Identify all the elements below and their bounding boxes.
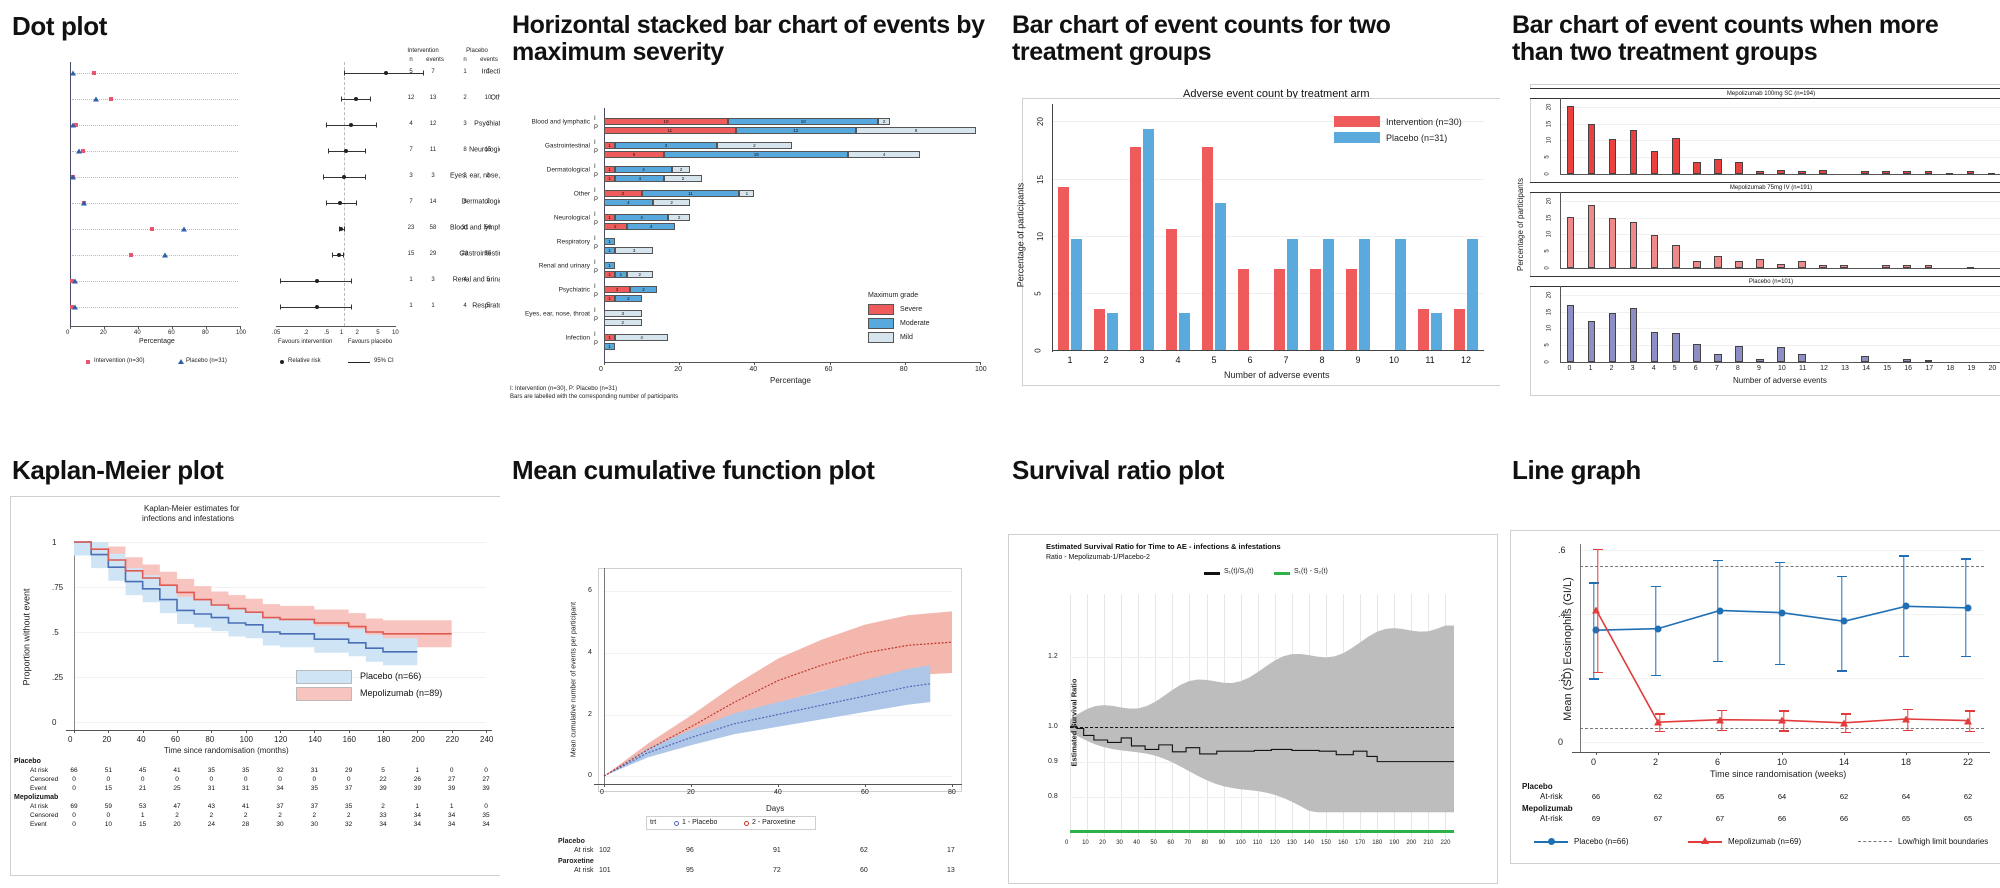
mcf-risk-value: 72 <box>773 867 781 874</box>
bar-two-groups-bar-placebo <box>1431 313 1442 350</box>
line-graph-point-placebo <box>1841 618 1848 625</box>
dot-plot-table-cell: 29 <box>430 251 437 257</box>
dot-plot-rr-tick-label: .05 <box>272 330 280 336</box>
bar-two-groups-x-axis <box>1052 350 1484 351</box>
dot-plot-table-cell: 1 <box>486 69 489 75</box>
kaplan-meier-risk-value: 47 <box>173 803 180 810</box>
stacked-bar-arm-label-I: I <box>594 332 596 338</box>
line-graph-point-mepolizumab <box>1902 716 1910 723</box>
dot-plot-ci-cap-high <box>376 122 377 127</box>
kaplan-meier-risk-value: 35 <box>345 803 352 810</box>
bar-two-groups-y-axis-label: Percentage of participants <box>1015 183 1025 288</box>
bar-multi-groups-gridline <box>1560 140 2000 141</box>
dot-plot-rr-tick-label: 1 <box>340 330 343 336</box>
bar-multi-groups-y-tick-label: 5 <box>1545 156 1551 159</box>
bar-two-groups-x-tick-label: 7 <box>1283 355 1288 365</box>
bar-multi-groups-x-tick-label: 3 <box>1631 365 1635 372</box>
kaplan-meier-risk-value: 20 <box>173 821 180 828</box>
dot-plot-ci-cap-low <box>332 252 333 257</box>
panel-line-graph: Line graph 0.2.4.602610141822Time since … <box>1500 444 2000 888</box>
dot-plot-ci-cap-high <box>370 96 371 101</box>
bar-two-groups-x-tick-label: 6 <box>1247 355 1252 365</box>
dot-plot-rr-tick-label: .5 <box>324 330 329 336</box>
dot-plot-table-cell: 15 <box>408 251 415 257</box>
bar-multi-groups-bar <box>1693 261 1701 268</box>
line-graph-point-mepolizumab <box>1592 606 1600 613</box>
bar-multi-groups-bar <box>1903 171 1911 174</box>
line-graph-error-cap-bottom <box>1965 731 1975 732</box>
line-graph-legend-label: Low/high limit boundaries <box>1898 837 1988 846</box>
dot-plot-rr-point <box>354 97 358 101</box>
stacked-bar-segment-label: 3 <box>622 311 625 316</box>
kaplan-meier-risk-value: 10 <box>105 821 112 828</box>
bar-multi-groups-bar <box>1609 139 1617 174</box>
dot-plot-ci-row <box>8 280 500 281</box>
dot-plot-table-cell: 14 <box>430 199 437 205</box>
line-graph-legend-label: Placebo (n=66) <box>1574 837 1628 846</box>
mcf-figure: 0246020406080DaysMean cumulative number … <box>508 488 992 888</box>
dot-plot-reference-line <box>344 62 345 326</box>
dot-plot-table-cell: 3 <box>463 173 466 179</box>
line-graph-point-mepolizumab <box>1654 719 1662 726</box>
kaplan-meier-risk-value: 51 <box>105 767 112 774</box>
dot-plot-x-tick-label: 20 <box>100 330 107 336</box>
bar-multi-groups-bar <box>1756 359 1764 362</box>
survival-ratio-x-tick-label: 200 <box>1406 840 1416 846</box>
kaplan-meier-risk-value: 34 <box>276 785 283 792</box>
dot-plot-table-cell: 1 <box>409 303 412 309</box>
kaplan-meier-risk-value: 31 <box>311 767 318 774</box>
line-graph-error-cap-bottom <box>1593 672 1603 673</box>
stacked-bar-segment-label: 2 <box>614 224 617 229</box>
survival-ratio-reference-line <box>1070 727 1454 728</box>
dot-plot-legend-label: 95% CI <box>374 358 394 364</box>
dot-plot-ci-row <box>8 98 500 99</box>
dot-plot-rr-axis <box>276 326 396 327</box>
mcf-legend-label: 1 - Placebo <box>682 819 717 826</box>
dot-plot-x-tick <box>104 326 105 329</box>
bar-multi-groups-bar <box>1672 138 1680 174</box>
bar-two-groups-bar-placebo <box>1179 313 1190 350</box>
line-graph-error-cap-bottom <box>1589 678 1599 679</box>
dot-plot-ci-cap-low <box>326 122 327 127</box>
bar-multi-groups-x-tick-label: 11 <box>1799 365 1806 372</box>
bar-two-groups-bar-intervention <box>1418 309 1429 350</box>
kaplan-meier-risk-value: 0 <box>313 776 317 783</box>
kaplan-meier-risk-value: 30 <box>311 821 318 828</box>
line-graph-error-cap-bottom <box>1779 730 1789 731</box>
bar-two-groups-bar-placebo <box>1071 239 1082 350</box>
bar-two-groups-bar-intervention <box>1202 147 1213 350</box>
survival-ratio-x-tick-label: 0 <box>1065 840 1068 846</box>
line-graph-error-cap-top <box>1903 709 1913 710</box>
bar-multi-groups-bar <box>1567 305 1575 362</box>
dot-plot-table-cell: 2 <box>463 95 466 101</box>
bar-multi-groups-y-tick-label: 0 <box>1545 360 1551 363</box>
mcf-risk-row-label: At risk <box>574 867 593 874</box>
mcf-risk-value: 13 <box>947 867 955 874</box>
bar-two-groups-bar-intervention <box>1346 269 1357 350</box>
bar-multi-groups-x-tick-label: 1 <box>1589 365 1593 372</box>
kaplan-meier-risk-row-label: Event <box>30 821 47 828</box>
dot-plot-table-header-intervention: Intervention <box>407 48 438 54</box>
kaplan-meier-risk-value: 21 <box>139 785 146 792</box>
dot-plot-rr-point <box>342 175 346 179</box>
stacked-bar-arm-label-P: P <box>594 341 598 347</box>
bar-multi-groups-bar <box>1882 171 1890 174</box>
line-graph-x-tick <box>1658 752 1659 755</box>
dot-plot-ci-row <box>8 306 500 307</box>
line-graph-x-tick-label: 18 <box>1901 757 1911 767</box>
bar-multi-groups-y-tick-label: 0 <box>1545 172 1551 175</box>
dot-plot-x-tick-label: 80 <box>202 330 209 336</box>
bar-multi-groups-y-tick-label: 10 <box>1546 231 1552 238</box>
bar-multi-groups-bar <box>1777 264 1785 268</box>
mcf-risk-group-name: Placebo <box>558 838 585 845</box>
bar-two-groups-gridline <box>1052 179 1484 180</box>
bar-multi-groups-y-tick-label: 20 <box>1546 103 1552 110</box>
kaplan-meier-risk-value: 0 <box>72 821 76 828</box>
stacked-bar-category-label: Dermatological <box>508 167 590 174</box>
stacked-bar-x-axis <box>604 362 980 363</box>
bar-multi-groups-bar <box>1861 356 1869 362</box>
dot-plot-ci-cap-high <box>365 174 366 179</box>
line-graph-error-cap-bottom <box>1837 670 1847 671</box>
kaplan-meier-risk-group-name: Mepolizumab <box>14 794 58 801</box>
stacked-bar-x-axis-label: Percentage <box>770 376 811 385</box>
kaplan-meier-risk-value: 33 <box>379 812 386 819</box>
dot-plot-ci-cap-high <box>356 200 357 205</box>
stacked-bar-category-label: Neurological <box>508 215 590 222</box>
stacked-bar-segment-label: 4 <box>627 200 630 205</box>
kaplan-meier-risk-value: 31 <box>208 785 215 792</box>
line-graph-x-tick-label: 10 <box>1777 757 1787 767</box>
survival-ratio-x-tick-label: 10 <box>1082 840 1089 846</box>
dot-plot-table-cell: 15 <box>485 147 492 153</box>
survival-ratio-x-tick-label: 180 <box>1372 840 1382 846</box>
bar-two-groups-x-axis-label: Number of adverse events <box>1224 370 1330 380</box>
line-graph-error-cap-bottom <box>1903 730 1913 731</box>
stacked-bar-segment-label: 1 <box>608 239 611 244</box>
bar-multi-groups-bar <box>1588 205 1596 268</box>
stacked-bar-segment-label: 11 <box>688 191 693 196</box>
stacked-bar-legend-label: Moderate <box>900 320 930 327</box>
line-graph-point-placebo <box>1965 604 1972 611</box>
stacked-bar-arm-label-I: I <box>594 284 596 290</box>
survival-ratio-curves <box>1008 494 1500 874</box>
dot-plot-rr-point <box>384 71 388 75</box>
bar-multi-groups-gridline <box>1560 234 2000 235</box>
dot-plot-ci-cap-low <box>280 278 281 283</box>
dot-plot-rr-tick-label: 10 <box>392 330 399 336</box>
bar-multi-groups-x-tick-label: 2 <box>1610 365 1614 372</box>
kaplan-meier-risk-value: 0 <box>72 776 76 783</box>
mcf-curves <box>508 494 1000 796</box>
dot-plot-table-cell: 10 <box>485 95 492 101</box>
stacked-bar-segment-label: 1 <box>608 167 611 172</box>
bar-multi-groups-bar <box>1714 159 1722 174</box>
bar-multi-groups-y-tick-label: 15 <box>1546 120 1552 127</box>
line-graph-error-cap-top <box>1651 586 1661 587</box>
survival-ratio-x-tick-label: 70 <box>1184 840 1191 846</box>
bar-two-groups-bar-placebo <box>1107 313 1118 350</box>
line-graph-error-cap-top <box>1837 576 1847 577</box>
stacked-bar-footnote-2: Bars are labelled with the corresponding… <box>510 394 678 400</box>
kaplan-meier-risk-value: 34 <box>448 812 455 819</box>
dot-plot-ci-cap-low <box>326 200 327 205</box>
panel-bar-multi-groups: Bar chart of event counts when more than… <box>1500 0 2000 444</box>
bar-multi-groups-x-tick-label: 13 <box>1841 365 1849 372</box>
dot-plot-legend-marker-relative-risk <box>280 360 284 364</box>
line-graph-risk-value: 65 <box>1716 792 1724 801</box>
kaplan-meier-risk-value: 2 <box>381 803 385 810</box>
bar-multi-groups-bar <box>1672 245 1680 268</box>
line-graph-error-cap-top <box>1841 713 1851 714</box>
dot-plot-ci-row <box>8 228 500 229</box>
stacked-bar-arm-label-I: I <box>594 164 596 170</box>
bar-two-groups-bar-placebo <box>1467 239 1478 350</box>
stacked-bar-category-label: Psychiatric <box>508 287 590 294</box>
kaplan-meier-risk-value: 41 <box>242 803 249 810</box>
dot-plot-table-cell: 55 <box>485 251 492 257</box>
kaplan-meier-risk-value: 1 <box>141 812 145 819</box>
line-graph-error-cap-bottom <box>1651 675 1661 676</box>
stacked-bar-segment-label: 5 <box>633 152 636 157</box>
stacked-bar-arm-label-I: I <box>594 236 596 242</box>
dot-plot-table-cell: 4 <box>409 121 412 127</box>
bar-multi-groups-plot-frame <box>1530 84 2000 396</box>
bar-two-groups-bar-intervention <box>1274 269 1285 350</box>
mcf-risk-value: 60 <box>860 867 868 874</box>
dot-plot-rr-tick-label: 5 <box>376 330 379 336</box>
dot-plot-ci-cap-low <box>341 96 342 101</box>
survival-ratio-y-axis-label: Estimated Survival Ratio <box>1070 663 1079 783</box>
mcf-risk-row-label: At risk <box>574 847 593 854</box>
bar-multi-groups-y-tick-label: 5 <box>1545 344 1551 347</box>
kaplan-meier-risk-value: 69 <box>70 803 77 810</box>
bar-multi-groups-panel-header-0: Mepolizumab 100mg SC (n=194) <box>1530 88 2000 99</box>
line-graph-risk-value: 62 <box>1964 792 1972 801</box>
line-graph-risk-value: 67 <box>1716 814 1724 823</box>
survival-ratio-x-tick-label: 90 <box>1219 840 1226 846</box>
kaplan-meier-risk-value: 43 <box>208 803 215 810</box>
line-graph-error-cap-bottom <box>1717 730 1727 731</box>
bar-two-groups-figure: Adverse event count by treatment arm0510… <box>1008 70 1492 444</box>
bar-multi-groups-y-tick-label: 5 <box>1545 250 1551 253</box>
bar-two-groups-gridline <box>1052 236 1484 237</box>
bar-multi-groups-gridline <box>1560 107 2000 108</box>
kaplan-meier-risk-value: 0 <box>484 767 488 774</box>
line-graph-risk-value: 67 <box>1654 814 1662 823</box>
bar-multi-groups-y-tick-label: 10 <box>1546 325 1552 332</box>
panel-survival-ratio: Survival ratio plot Estimated Survival R… <box>1000 444 1500 888</box>
stacked-bar-category-label: Other <box>508 191 590 198</box>
bar-two-groups-legend-swatch-1 <box>1334 132 1380 143</box>
dot-plot-rr-tick-label: 2 <box>356 330 359 336</box>
bar-two-groups-x-tick-label: 5 <box>1211 355 1216 365</box>
line-graph-x-tick <box>1844 752 1845 755</box>
bar-multi-groups-x-tick-label: 10 <box>1778 365 1786 372</box>
bar-two-groups-y-tick-label: 15 <box>1036 175 1045 184</box>
bar-multi-groups-bar <box>1714 354 1722 362</box>
survival-ratio-difference-line <box>1070 830 1454 833</box>
bar-two-groups-legend-label: Placebo (n=31) <box>1386 133 1447 143</box>
line-graph-series <box>1508 494 2000 762</box>
bar-multi-groups-y-axis-2 <box>1560 286 1561 362</box>
dot-plot-x-tick-label: 40 <box>134 330 141 336</box>
bar-multi-groups-x-tick-label: 20 <box>1988 365 1996 372</box>
dot-plot-table-cell: 56 <box>485 225 492 231</box>
dot-plot-y-axis <box>70 62 71 326</box>
stacked-bar-segment-label: 11 <box>667 128 672 133</box>
kaplan-meier-legend-label: Mepolizumab (n=89) <box>360 688 442 698</box>
page-title-survival-ratio: Survival ratio plot <box>1012 456 1492 484</box>
line-graph-risk-value: 64 <box>1902 792 1910 801</box>
bar-multi-groups-gridline <box>1560 328 2000 329</box>
line-graph-x-tick-label: 14 <box>1839 757 1849 767</box>
kaplan-meier-risk-value: 59 <box>105 803 112 810</box>
stacked-bar-arm-label-I: I <box>594 188 596 194</box>
stacked-bar-segment-label: 8 <box>915 128 918 133</box>
line-graph-risk-value: 65 <box>1964 814 1972 823</box>
kaplan-meier-risk-group-name: Placebo <box>14 758 41 765</box>
line-graph-x-tick <box>1720 752 1721 755</box>
bar-multi-groups-gridline <box>1560 201 2000 202</box>
stacked-bar-category-label: Eyes, ear, nose, throat <box>508 311 590 318</box>
bar-two-groups-x-tick-label: 2 <box>1103 355 1108 365</box>
kaplan-meier-risk-row-label: At risk <box>30 767 48 774</box>
bar-multi-groups-bar <box>1588 321 1596 362</box>
line-graph-error-cap-top <box>1593 549 1603 550</box>
bar-multi-groups-bar <box>1925 171 1933 174</box>
bar-two-groups-x-tick-label: 3 <box>1139 355 1144 365</box>
stacked-bar-segment-label: 2 <box>680 167 683 172</box>
line-graph-risk-value: 65 <box>1902 814 1910 823</box>
dot-plot-x-tick <box>70 326 71 329</box>
line-graph-x-tick <box>1596 752 1597 755</box>
bar-multi-groups-gridline <box>1560 251 2000 252</box>
line-graph-legend-label: Mepolizumab (n=69) <box>1728 837 1801 846</box>
survival-ratio-x-tick-label: 80 <box>1202 840 1209 846</box>
bar-two-groups-y-tick-label: 5 <box>1034 291 1043 295</box>
kaplan-meier-risk-value: 31 <box>242 785 249 792</box>
survival-ratio-x-tick-label: 20 <box>1099 840 1106 846</box>
line-graph-point-placebo <box>1779 609 1786 616</box>
line-graph-x-tick <box>1968 752 1969 755</box>
dot-plot-x-axis-label: Percentage <box>139 338 175 345</box>
dot-plot-table-cell: 1 <box>486 121 489 127</box>
dot-plot-table-subheader-events-placebo: events <box>480 57 498 63</box>
dot-plot-table-cell: 7 <box>409 147 412 153</box>
stacked-bar-segment-label: 2 <box>622 320 625 325</box>
bar-multi-groups-bar <box>1777 170 1785 174</box>
kaplan-meier-risk-value: 34 <box>482 821 489 828</box>
bar-two-groups-legend-label: Intervention (n=30) <box>1386 117 1462 127</box>
stacked-bar-segment-label: 2 <box>678 215 681 220</box>
stacked-bar-segment-label: 3 <box>665 143 668 148</box>
dot-plot-table-cell: 3 <box>409 173 412 179</box>
bar-multi-groups-x-tick-label: 18 <box>1946 365 1954 372</box>
survival-ratio-x-tick-label: 140 <box>1304 840 1314 846</box>
survival-ratio-x-tick-label: 40 <box>1133 840 1140 846</box>
mcf-risk-value: 17 <box>947 847 955 854</box>
page-title-mcf: Mean cumulative function plot <box>512 456 992 484</box>
stacked-bar-segment-label: 1 <box>608 263 611 268</box>
stacked-bar-arm-label-P: P <box>594 197 598 203</box>
bar-multi-groups-y-tick-label: 20 <box>1546 197 1552 204</box>
bar-multi-groups-panel-header-2: Placebo (n=101) <box>1530 276 2000 287</box>
dot-plot-ci-cap-high <box>351 304 352 309</box>
bar-two-groups-bar-intervention <box>1310 269 1321 350</box>
bar-multi-groups-bar <box>1693 162 1701 174</box>
line-graph-error-cap-bottom <box>1899 656 1909 657</box>
stacked-bar-category-label: Gastrointestinal <box>508 143 590 150</box>
bar-multi-groups-x-tick-label: 16 <box>1904 365 1912 372</box>
kaplan-meier-risk-value: 34 <box>448 821 455 828</box>
bar-multi-groups-gridline <box>1560 157 2000 158</box>
dot-plot-ci-cap-high <box>343 252 344 257</box>
stacked-bar-category-label: Respiratory <box>508 239 590 246</box>
kaplan-meier-risk-value: 35 <box>242 767 249 774</box>
stacked-bar-segment-label: 1 <box>608 335 611 340</box>
bar-two-groups-x-tick-label: 12 <box>1461 355 1471 365</box>
kaplan-meier-risk-value: 0 <box>72 785 76 792</box>
dot-plot-table-cell: 3 <box>486 173 489 179</box>
kaplan-meier-risk-value: 0 <box>210 776 214 783</box>
stacked-bar-x-tick-label: 0 <box>599 366 603 373</box>
dot-plot-table-cell: 5 <box>486 277 489 283</box>
stacked-bar-segment-label: 4 <box>640 215 643 220</box>
stacked-bar-segment-label: 1 <box>620 272 623 277</box>
kaplan-meier-risk-value: 32 <box>276 767 283 774</box>
kaplan-meier-risk-value: 0 <box>107 776 111 783</box>
bar-multi-groups-x-tick-label: 19 <box>1967 365 1975 372</box>
stacked-bar-category-label: Renal and urinary <box>508 263 590 270</box>
stacked-bar-segment-label: 4 <box>650 224 653 229</box>
dot-plot-x-tick-label: 0 <box>66 330 69 336</box>
line-graph-x-tick-label: 0 <box>1591 757 1596 767</box>
line-graph-risk-value: 62 <box>1654 792 1662 801</box>
dot-plot-table-cell: 58 <box>430 225 437 231</box>
line-graph-risk-group-name: Placebo <box>1522 782 1553 791</box>
kaplan-meier-risk-value: 35 <box>482 812 489 819</box>
dot-plot-ci-cap-high <box>351 278 352 283</box>
mcf-x-axis-label: Days <box>766 804 784 813</box>
stacked-bar-arm-label-P: P <box>594 245 598 251</box>
stacked-bar-arm-label-P: P <box>594 293 598 299</box>
stacked-bar-segment-label: 1 <box>608 344 611 349</box>
dot-plot-rr-point <box>315 305 319 309</box>
kaplan-meier-risk-value: 5 <box>381 767 385 774</box>
dot-plot-ci-row <box>8 150 500 151</box>
bar-two-groups-bar-placebo <box>1215 203 1226 350</box>
kaplan-meier-risk-value: 15 <box>105 785 112 792</box>
line-graph-risk-value: 66 <box>1778 814 1786 823</box>
dot-plot-legend-label: Intervention (n=30) <box>94 358 145 364</box>
dot-plot-table-header-placebo: Placebo <box>466 48 488 54</box>
mcf-risk-value: 96 <box>686 847 694 854</box>
bar-multi-groups-gridline <box>1560 218 2000 219</box>
bar-multi-groups-bar <box>1777 347 1785 362</box>
dot-plot-table-cell: 31 <box>462 225 469 231</box>
kaplan-meier-risk-value: 39 <box>414 785 421 792</box>
stacked-bar-x-tick <box>604 362 605 365</box>
dot-plot-table-cell: 3 <box>431 277 434 283</box>
dot-plot-table-cell: 28 <box>462 251 469 257</box>
bar-multi-groups-x-axis-label: Number of adverse events <box>1733 376 1827 385</box>
bar-two-groups-x-tick-label: 9 <box>1355 355 1360 365</box>
kaplan-meier-risk-value: 0 <box>141 776 145 783</box>
